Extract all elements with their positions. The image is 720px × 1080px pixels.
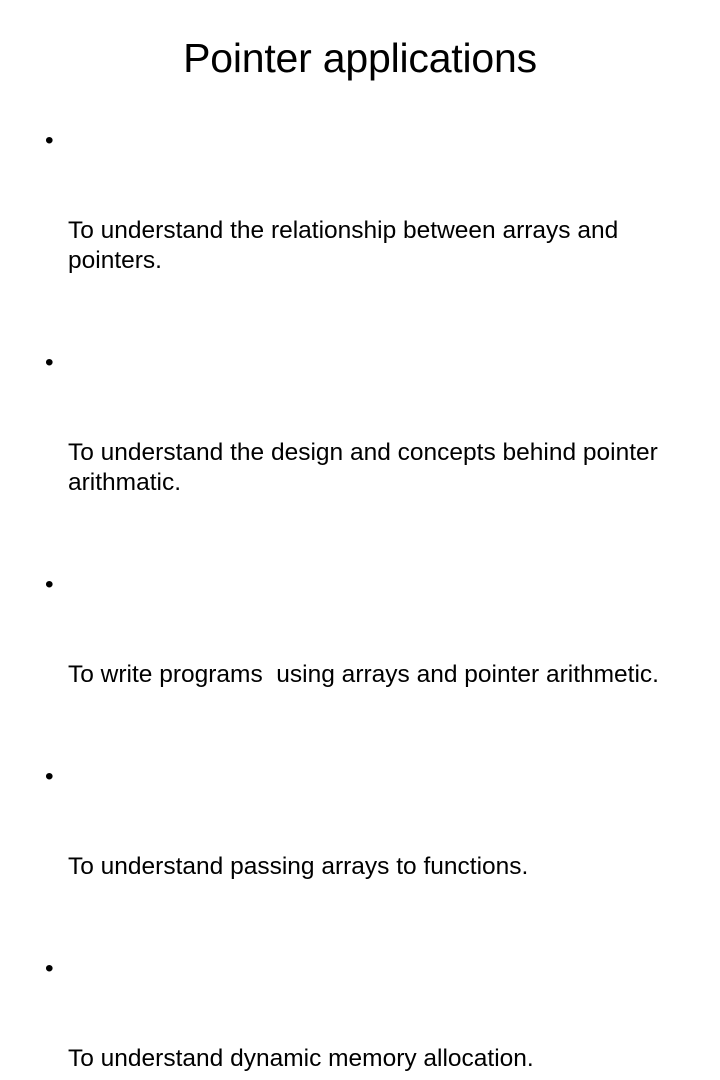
list-item: • To understand the design and concepts … (40, 348, 688, 558)
list-item: • To understand dynamic memory allocatio… (40, 954, 688, 1080)
bullet-point-icon: • (45, 762, 61, 792)
slide: Pointer applications • To understand the… (0, 0, 720, 540)
slide-content-placeholder: • To understand the relationship between… (40, 126, 688, 1080)
list-item-label: To understand passing arrays to function… (68, 852, 688, 882)
list-item-label: To write programs using arrays and point… (68, 660, 688, 690)
page-title: Pointer applications (36, 34, 684, 82)
bullet-point-icon: • (45, 126, 61, 156)
list-item: • To write programs using arrays and poi… (40, 570, 688, 750)
bullet-point-icon: • (45, 954, 61, 984)
bullet-list: • To understand the relationship between… (40, 126, 688, 1080)
list-item-label: To understand the design and concepts be… (68, 438, 688, 498)
list-item-label: To understand dynamic memory allocation. (68, 1044, 688, 1074)
bullet-point-icon: • (45, 570, 61, 600)
list-item: • To understand the relationship between… (40, 126, 688, 336)
bullet-point-icon: • (45, 348, 61, 378)
list-item-label: To understand the relationship between a… (68, 216, 688, 276)
list-item: • To understand passing arrays to functi… (40, 762, 688, 942)
